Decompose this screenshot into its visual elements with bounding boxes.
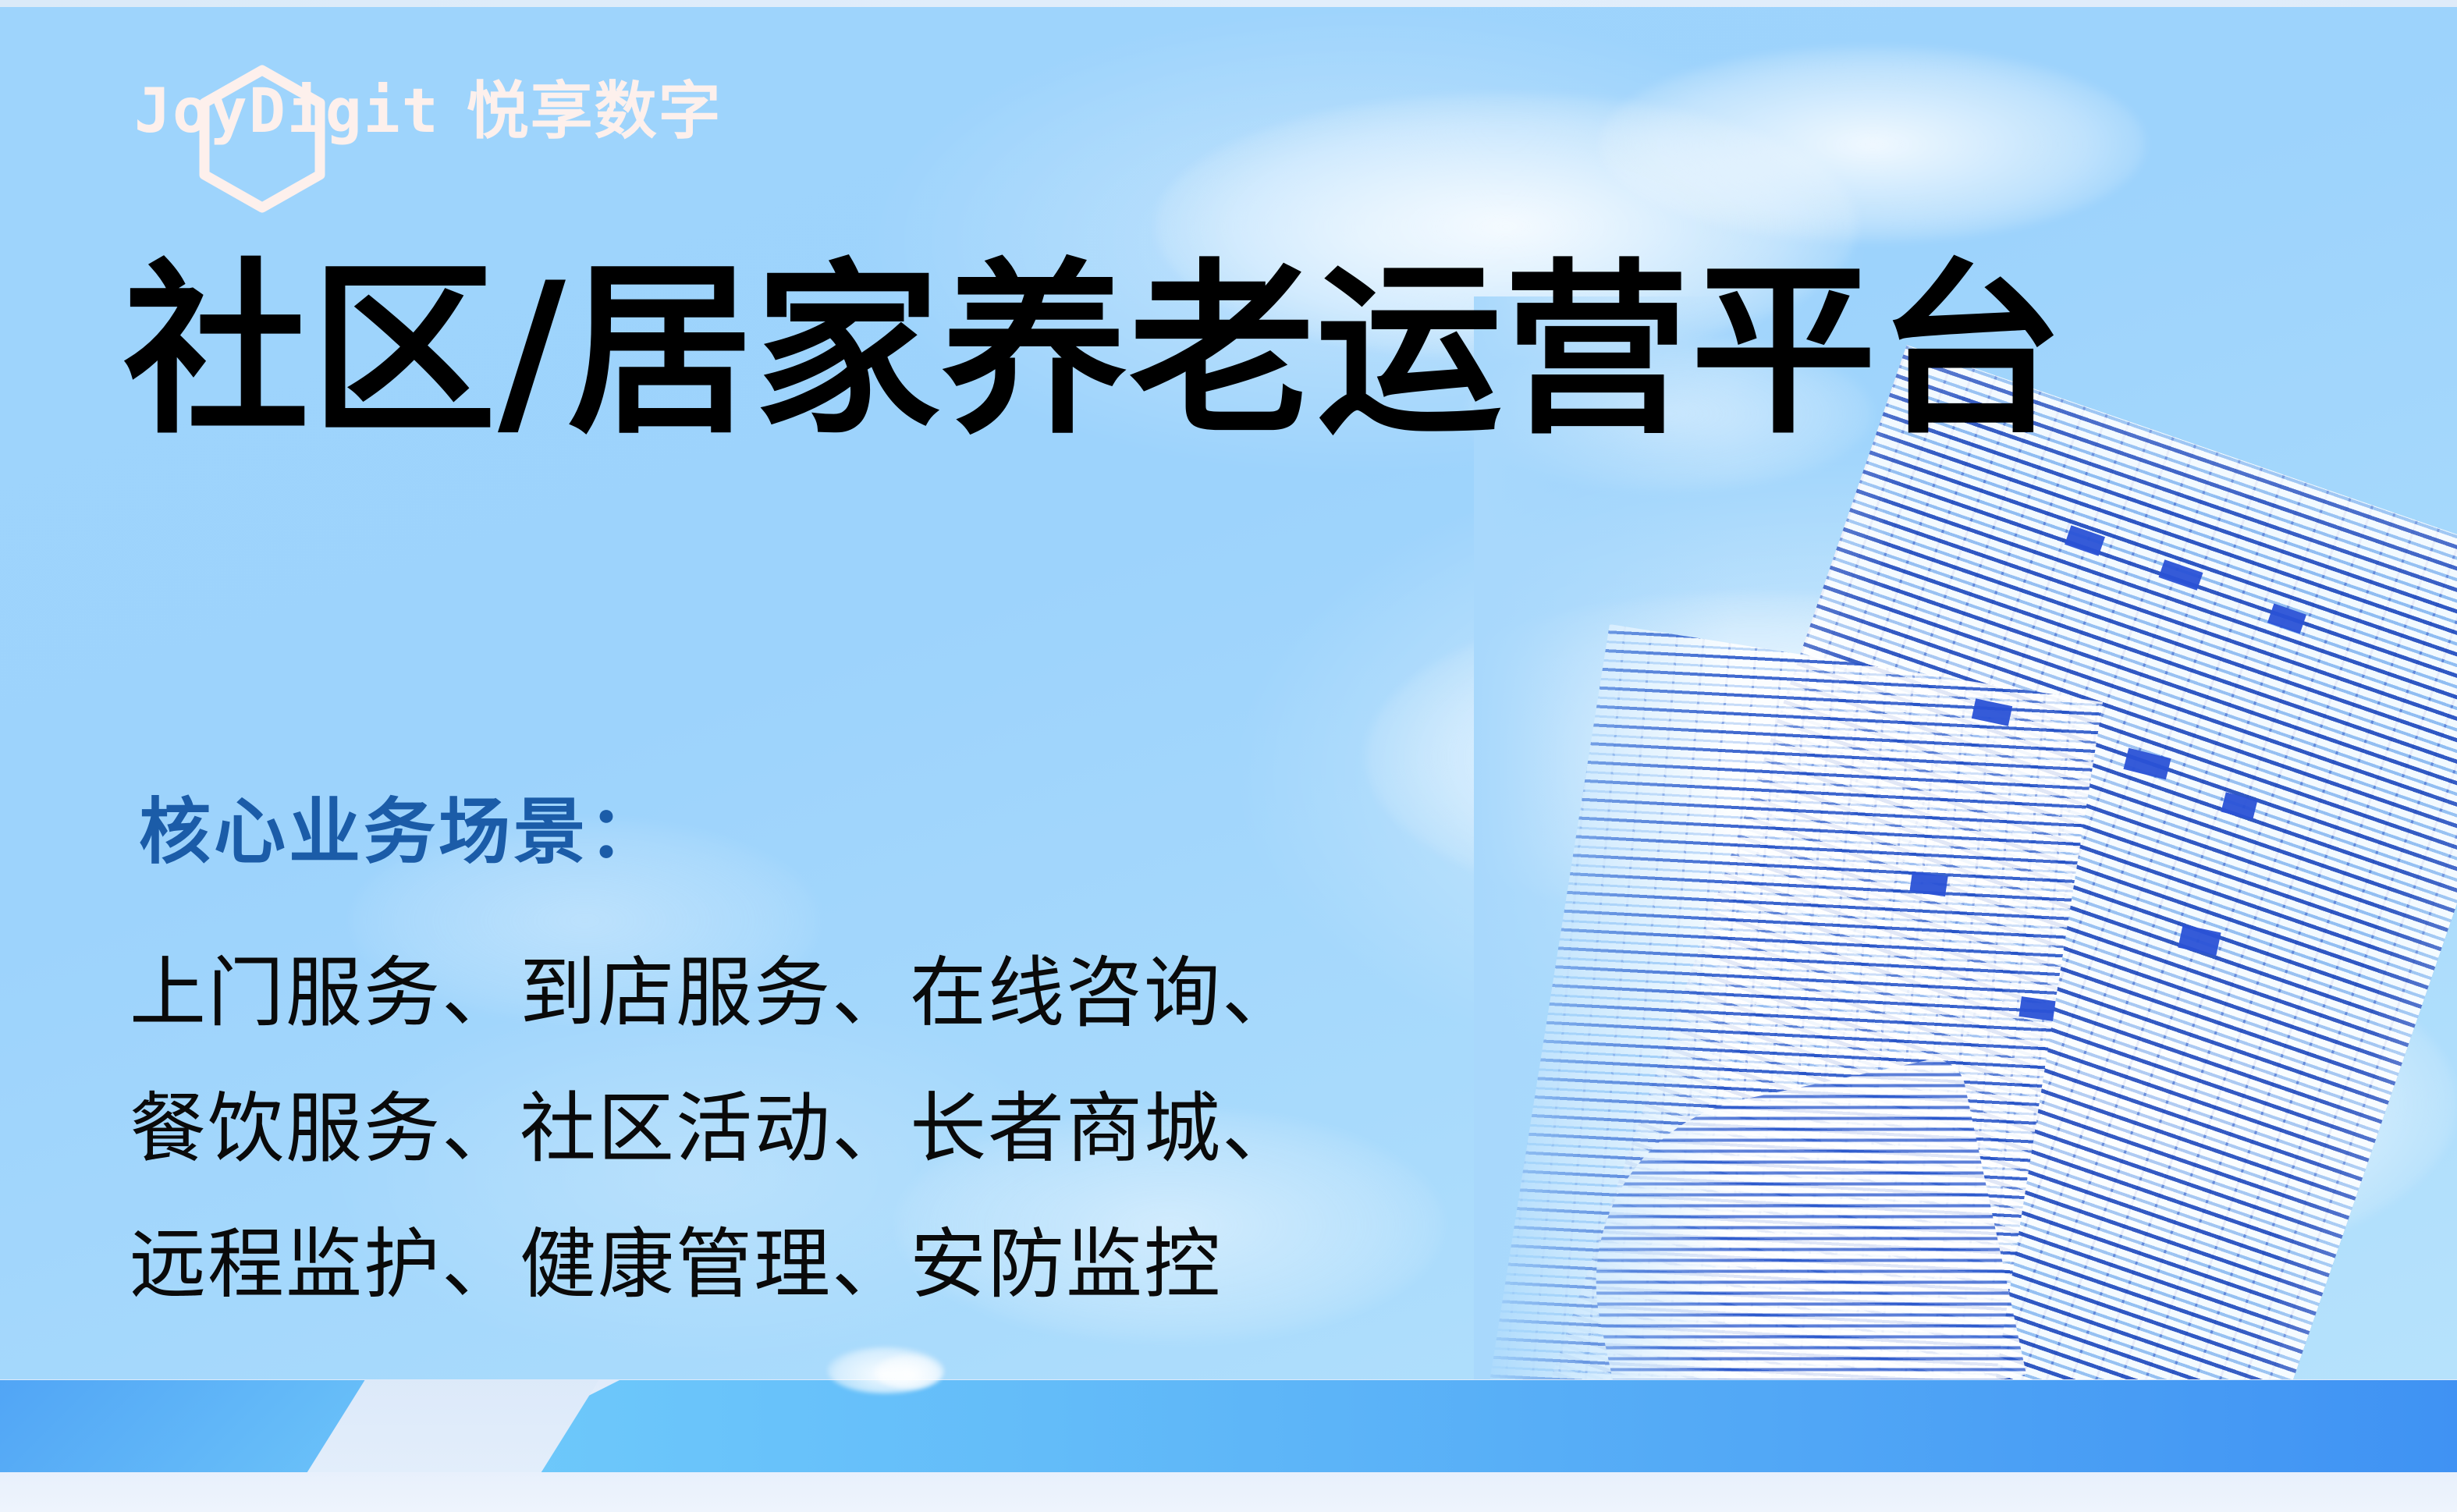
cloud-puff bbox=[874, 1354, 944, 1389]
brand-logo[interactable]: JoyDigit 悦享数字 bbox=[134, 41, 696, 197]
scenario-line: 远程监护、健康管理、安防监控 bbox=[130, 1197, 1300, 1333]
brand-logo-chinese: 悦享数字 bbox=[467, 80, 723, 143]
brand-logo-latin: JoyDigit bbox=[134, 81, 440, 142]
section-label-core-scenarios: 核心业务场景： bbox=[139, 774, 663, 878]
decorative-band bbox=[0, 1380, 2457, 1472]
brand-logo-text: JoyDigit 悦享数字 bbox=[134, 69, 723, 154]
scenario-list: 上门服务、到店服务、在线咨询、 餐饮服务、社区活动、长者商城、 远程监护、健康管… bbox=[130, 925, 1300, 1333]
scenario-line: 上门服务、到店服务、在线咨询、 bbox=[130, 925, 1300, 1061]
slide-canvas: JoyDigit 悦享数字 社区/居家养老运营平台 核心业务场景： 上门服务、到… bbox=[0, 0, 2457, 1512]
top-edge-strip bbox=[0, 0, 2457, 7]
band-segment-right bbox=[437, 1380, 2457, 1472]
page-title: 社区/居家养老运营平台 bbox=[123, 251, 2065, 452]
scenario-line: 餐饮服务、社区活动、长者商城、 bbox=[130, 1061, 1300, 1197]
